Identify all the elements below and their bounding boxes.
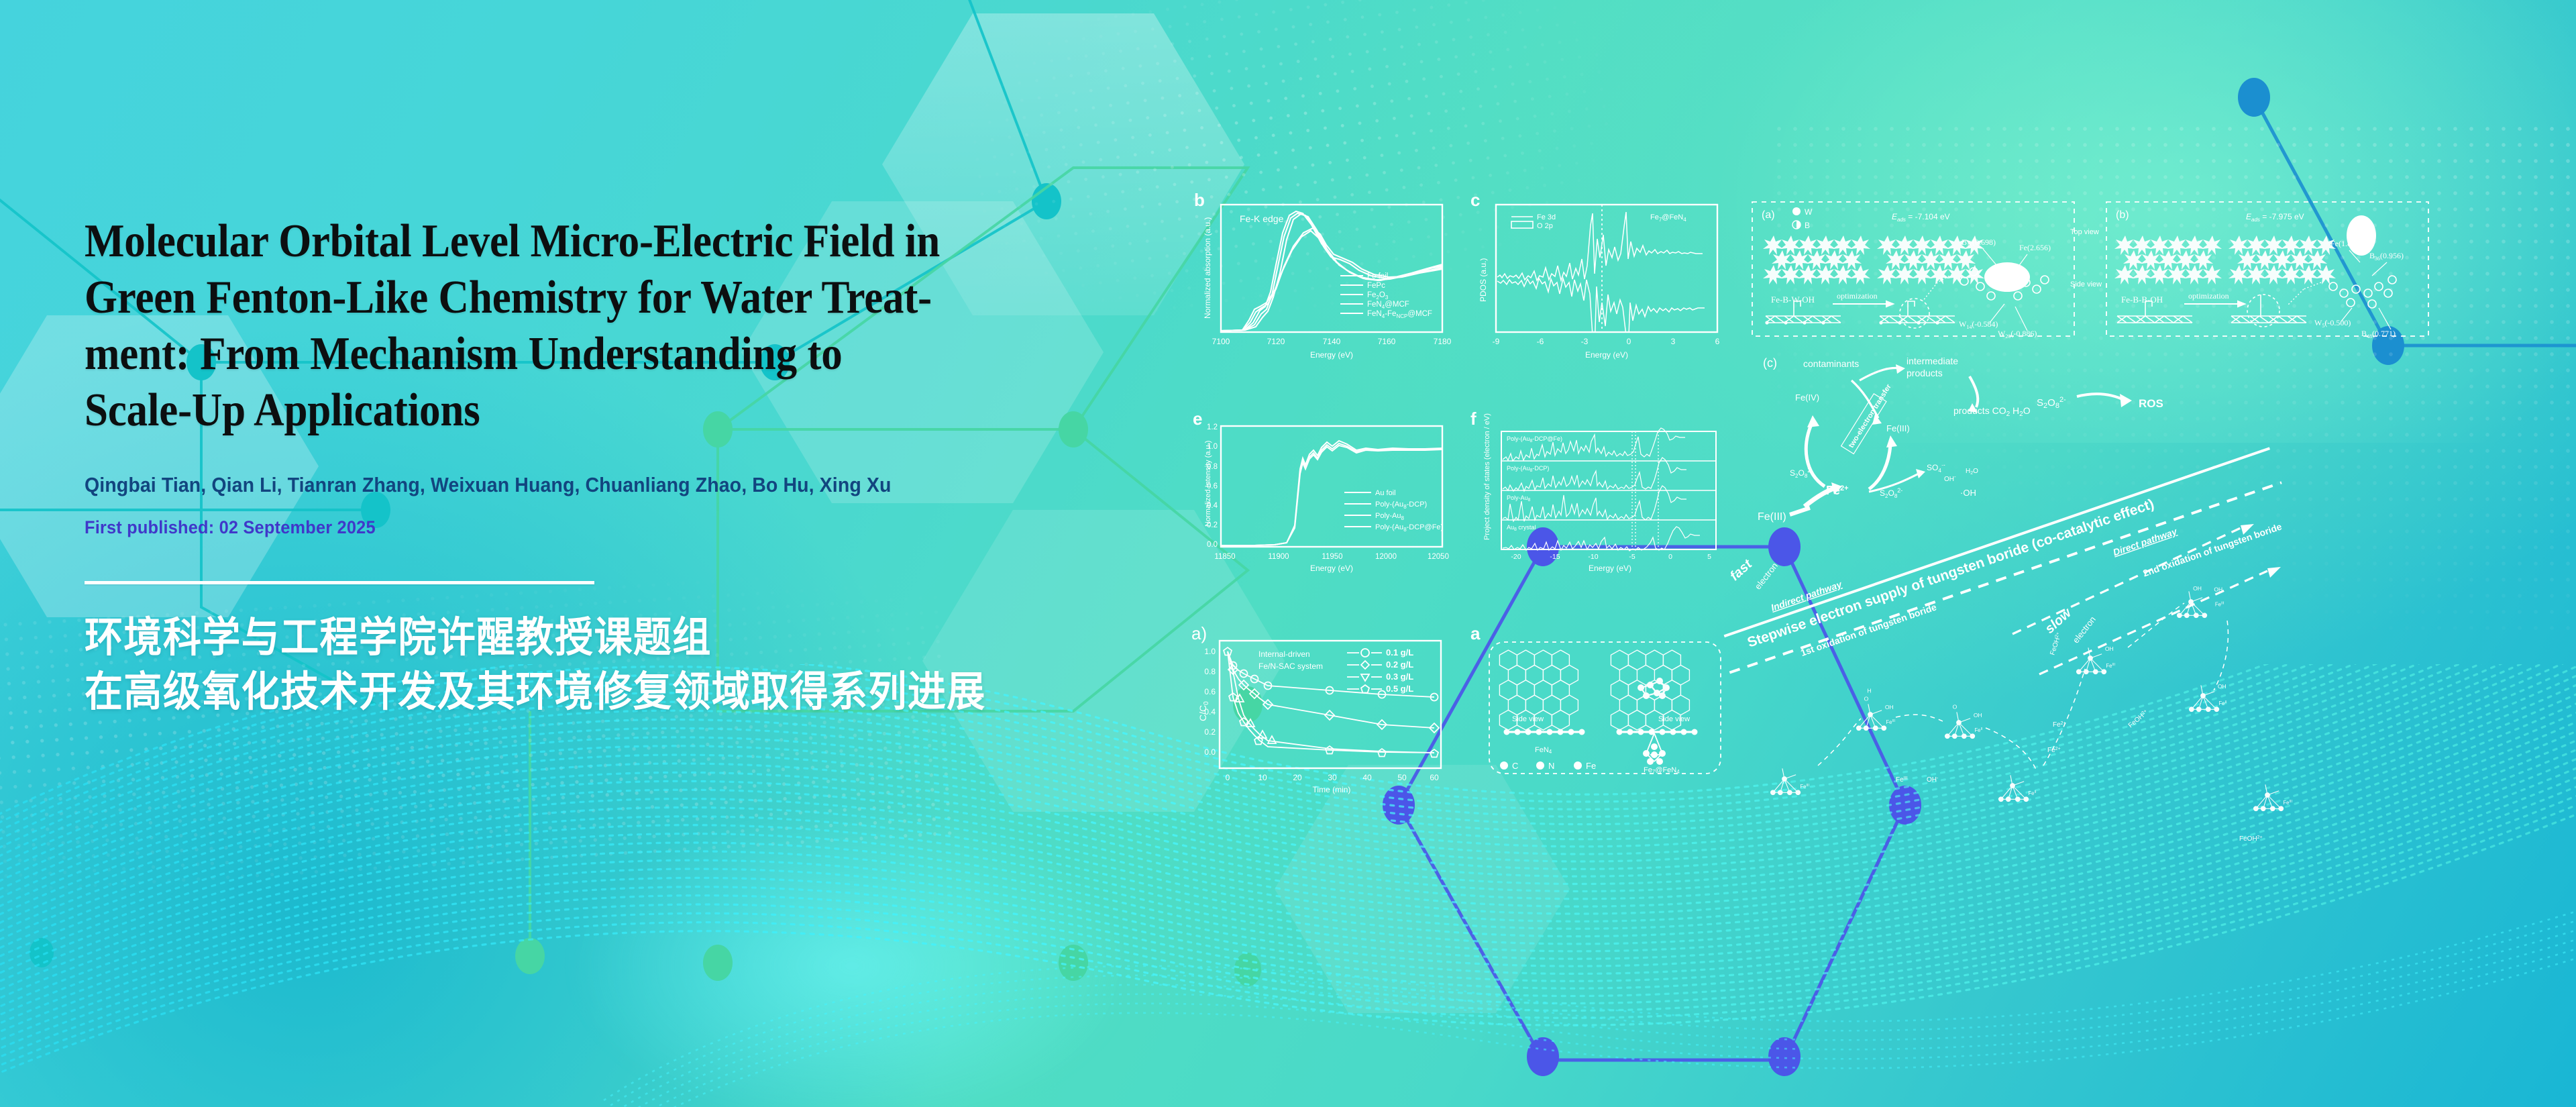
svg-text:OH: OH bbox=[2214, 586, 2222, 592]
svg-text:Top view: Top view bbox=[2070, 228, 2099, 236]
svg-text:Eads = -7.975 eV: Eads = -7.975 eV bbox=[2246, 212, 2304, 223]
svg-text:3: 3 bbox=[1671, 337, 1676, 346]
svg-text:1.0: 1.0 bbox=[1207, 443, 1218, 451]
svg-text:0.0: 0.0 bbox=[1207, 541, 1218, 549]
svg-text:O: O bbox=[1953, 704, 1957, 710]
svg-text:Fe: Fe bbox=[1586, 761, 1596, 771]
svg-text:(c): (c) bbox=[1763, 356, 1777, 370]
svg-text:OH: OH bbox=[2218, 683, 2226, 690]
svg-text:0.6: 0.6 bbox=[1204, 687, 1216, 696]
svg-text:FeN4: FeN4 bbox=[1535, 746, 1552, 755]
svg-text:Fe-B-B-OH: Fe-B-B-OH bbox=[2121, 295, 2163, 305]
svg-text:-3: -3 bbox=[1581, 337, 1589, 346]
svg-text:11850: 11850 bbox=[1214, 553, 1235, 561]
svg-text:Energy (eV): Energy (eV) bbox=[1310, 564, 1353, 573]
svg-text:intermediate: intermediate bbox=[1907, 356, 1958, 366]
title-line-3: ment: From Mechanism Understanding to bbox=[85, 328, 843, 380]
title-line-2: Green Fenton-Like Chemistry for Water Tr… bbox=[85, 272, 932, 323]
section-divider bbox=[85, 581, 594, 584]
svg-text:-20: -20 bbox=[1511, 553, 1521, 561]
svg-text:0.8: 0.8 bbox=[1207, 463, 1218, 471]
svg-text:Fe(III): Fe(III) bbox=[1758, 511, 1786, 523]
svg-text:f: f bbox=[1470, 409, 1477, 429]
svg-text:0.5 g/L: 0.5 g/L bbox=[1386, 684, 1413, 694]
svg-text:OH-: OH- bbox=[1927, 776, 1939, 784]
svg-text:(a): (a) bbox=[1762, 209, 1775, 221]
svg-text:-9: -9 bbox=[1493, 337, 1500, 346]
svg-text:7160: 7160 bbox=[1378, 337, 1396, 346]
svg-text:Fe7@FeN4: Fe7@FeN4 bbox=[1650, 213, 1686, 223]
svg-text:two-electron transfer: two-electron transfer bbox=[1847, 382, 1894, 450]
svg-text:FeIII: FeIII bbox=[1896, 776, 1908, 784]
svg-text:electron: electron bbox=[2071, 615, 2098, 645]
title-line-1: Molecular Orbital Level Micro-Electric F… bbox=[85, 215, 940, 267]
svg-text:FeII: FeII bbox=[2218, 700, 2227, 706]
svg-text:Au foil: Au foil bbox=[1375, 489, 1396, 497]
svg-text:7100: 7100 bbox=[1212, 337, 1230, 346]
svg-text:Time (min): Time (min) bbox=[1313, 785, 1351, 794]
legend-b-2: Fe2O3 bbox=[1367, 291, 1389, 301]
svg-text:Fe(2.656): Fe(2.656) bbox=[2019, 243, 2051, 252]
svg-text:-10: -10 bbox=[1588, 553, 1598, 561]
svg-text:C: C bbox=[1512, 761, 1518, 771]
svg-text:Stepwise electron supply of tu: Stepwise electron supply of tungsten bor… bbox=[1746, 496, 2156, 651]
svg-text:Internal-driven: Internal-driven bbox=[1258, 649, 1310, 659]
svg-text:5: 5 bbox=[1707, 553, 1711, 561]
announcement-line-2: 在高级氧化技术开发及其环境修复领域取得系列进展 bbox=[85, 666, 1134, 720]
svg-text:30: 30 bbox=[1328, 773, 1337, 782]
svg-text:FeII: FeII bbox=[2028, 790, 2037, 796]
svg-text:0.2: 0.2 bbox=[1204, 727, 1216, 737]
svg-text:FeOH2+: FeOH2+ bbox=[2239, 835, 2263, 843]
svg-text:fast: fast bbox=[1727, 556, 1756, 584]
svg-text:Fe2+: Fe2+ bbox=[2053, 721, 2066, 729]
svg-text:Project density of states (ele: Project density of states (electron / eV… bbox=[1483, 413, 1491, 540]
journal-cover-banner: Molecular Orbital Level Micro-Electric F… bbox=[0, 0, 2576, 1107]
svg-text:W14(-0.584): W14(-0.584) bbox=[1959, 319, 1998, 330]
svg-text:SO4·-: SO4·- bbox=[1927, 462, 1945, 474]
svg-text:FeIII: FeIII bbox=[1800, 784, 1809, 790]
legend-b-1: FePc bbox=[1367, 282, 1385, 290]
svg-text:0.6: 0.6 bbox=[1207, 482, 1218, 490]
publication-date: First published: 02 September 2025 bbox=[85, 517, 1157, 538]
svg-text:b: b bbox=[1194, 191, 1205, 210]
svg-text:12050: 12050 bbox=[1428, 553, 1449, 561]
svg-text:B16(0.698): B16(0.698) bbox=[1962, 238, 1996, 248]
svg-text:Au8 crystal: Au8 crystal bbox=[1507, 524, 1536, 532]
svg-text:-6: -6 bbox=[1537, 337, 1544, 346]
svg-text:Poly-(Au8-DCP): Poly-(Au8-DCP) bbox=[1507, 465, 1549, 473]
svg-text:0.4: 0.4 bbox=[1207, 502, 1218, 510]
svg-text:6: 6 bbox=[1715, 337, 1720, 346]
svg-text:O: O bbox=[1864, 696, 1869, 702]
svg-text:Eads = -7.104 eV: Eads = -7.104 eV bbox=[1892, 212, 1950, 223]
svg-text:Fe 3d: Fe 3d bbox=[1537, 213, 1556, 221]
svg-text:e: e bbox=[1193, 409, 1202, 429]
svg-text:Fe7@FeN4: Fe7@FeN4 bbox=[1644, 766, 1680, 775]
author-list: Qingbai Tian, Qian Li, Tianran Zhang, We… bbox=[85, 474, 1151, 497]
svg-text:PDOS (a.u.): PDOS (a.u.) bbox=[1479, 258, 1488, 302]
svg-text:Poly-Au8: Poly-Au8 bbox=[1507, 494, 1531, 503]
svg-text:11900: 11900 bbox=[1268, 553, 1289, 561]
svg-text:contaminants: contaminants bbox=[1803, 358, 1859, 369]
svg-text:0: 0 bbox=[1226, 773, 1230, 782]
svg-text:W5(-0.500): W5(-0.500) bbox=[2314, 318, 2351, 329]
svg-text:1.0: 1.0 bbox=[1204, 647, 1216, 656]
svg-text:20: 20 bbox=[1293, 773, 1302, 782]
svg-text:7120: 7120 bbox=[1267, 337, 1285, 346]
svg-text:OH: OH bbox=[1885, 704, 1894, 710]
legend-b-4: FeN4-FeNCP@MCF bbox=[1367, 310, 1432, 319]
svg-text:Fe(1.893): Fe(1.893) bbox=[2330, 239, 2362, 248]
svg-text:OH: OH bbox=[1974, 712, 1982, 719]
svg-text:W20(-0.886): W20(-0.886) bbox=[1998, 329, 2037, 339]
svg-text:Side view: Side view bbox=[1658, 715, 1690, 723]
svg-text:Fe(IV): Fe(IV) bbox=[1795, 392, 1819, 403]
svg-text:Poly-Au8: Poly-Au8 bbox=[1375, 512, 1405, 521]
svg-text:Side view: Side view bbox=[2070, 280, 2102, 288]
svg-text:OH: OH bbox=[2193, 585, 2202, 592]
announcement-line-1: 环境科学与工程学院许醒教授课题组 bbox=[85, 611, 1134, 666]
svg-text:40: 40 bbox=[1362, 773, 1372, 782]
legend-b-0: Fe foil bbox=[1367, 272, 1388, 280]
svg-text:Poly-(Au8-DCP@Fe): Poly-(Au8-DCP@Fe) bbox=[1507, 435, 1562, 443]
svg-text:B48(0.771): B48(0.771) bbox=[2361, 329, 2396, 339]
legend-b-3: FeN4@MCF bbox=[1367, 301, 1409, 310]
svg-text:a): a) bbox=[1191, 623, 1207, 643]
svg-text:0: 0 bbox=[1668, 553, 1672, 561]
announcement-block: 环境科学与工程学院许醒教授课题组 在高级氧化技术开发及其环境修复领域取得系列进展 bbox=[85, 611, 1225, 719]
svg-text:OH: OH bbox=[2105, 645, 2114, 652]
svg-text:W: W bbox=[1805, 207, 1813, 217]
svg-text:(b): (b) bbox=[2116, 209, 2129, 221]
svg-text:10: 10 bbox=[1258, 773, 1267, 782]
svg-text:optimization: optimization bbox=[1837, 291, 1878, 301]
svg-text:B36(0.956): B36(0.956) bbox=[2369, 251, 2404, 262]
svg-text:Fe-K edge: Fe-K edge bbox=[1240, 213, 1284, 224]
svg-text:0.2: 0.2 bbox=[1207, 521, 1218, 529]
svg-text:7140: 7140 bbox=[1323, 337, 1341, 346]
svg-text:O 2p: O 2p bbox=[1537, 222, 1553, 230]
svg-text:products: products bbox=[1907, 368, 1943, 378]
svg-text:B: B bbox=[1805, 221, 1810, 230]
svg-text:50: 50 bbox=[1397, 773, 1407, 782]
svg-text:Poly-(Au8-DCP@Fe): Poly-(Au8-DCP@Fe) bbox=[1375, 523, 1443, 533]
svg-text:slow: slow bbox=[2042, 605, 2075, 637]
svg-text:Poly-(Au8-DCP): Poly-(Au8-DCP) bbox=[1375, 500, 1427, 510]
svg-text:Fe(III): Fe(III) bbox=[1886, 423, 1910, 433]
svg-text:FeIII: FeIII bbox=[2215, 601, 2224, 607]
svg-text:H2O: H2O bbox=[1966, 468, 1978, 476]
title-line-4: Scale-Up Applications bbox=[85, 384, 480, 436]
svg-text:FeIII: FeIII bbox=[1886, 719, 1895, 725]
svg-text:Side view: Side view bbox=[1512, 715, 1544, 723]
svg-text:-15: -15 bbox=[1550, 553, 1560, 561]
svg-text:0.3 g/L: 0.3 g/L bbox=[1386, 672, 1413, 682]
svg-text:N: N bbox=[1548, 761, 1554, 771]
svg-text:·OH: ·OH bbox=[1960, 488, 1976, 498]
svg-text:Energy (eV): Energy (eV) bbox=[1310, 350, 1353, 360]
svg-text:Fe2+: Fe2+ bbox=[2047, 747, 2061, 755]
svg-text:S2O82-: S2O82- bbox=[2037, 396, 2066, 410]
svg-text:products CO2 H2O: products CO2 H2O bbox=[1953, 405, 2031, 418]
svg-text:Fe/N-SAC system: Fe/N-SAC system bbox=[1258, 662, 1323, 671]
svg-text:optimization: optimization bbox=[2188, 291, 2229, 301]
svg-text:ROS: ROS bbox=[2139, 397, 2163, 410]
svg-text:Fe-B-W-OH: Fe-B-W-OH bbox=[1771, 295, 1815, 305]
svg-text:0.1 g/L: 0.1 g/L bbox=[1386, 647, 1413, 657]
page-title: Molecular Orbital Level Micro-Electric F… bbox=[85, 213, 1111, 439]
svg-text:a: a bbox=[1470, 623, 1481, 643]
svg-text:0.8: 0.8 bbox=[1204, 667, 1216, 676]
svg-text:11950: 11950 bbox=[1322, 553, 1342, 561]
svg-text:-5: -5 bbox=[1629, 553, 1635, 561]
svg-text:Normalized absorption (a.u.): Normalized absorption (a.u.) bbox=[1203, 217, 1212, 319]
svg-text:FeIII: FeIII bbox=[2283, 800, 2292, 806]
research-figure-composite: b Fe-K edge Normalized absorption (a.u.) bbox=[1181, 191, 2576, 862]
svg-text:c: c bbox=[1470, 191, 1480, 210]
svg-text:0.2 g/L: 0.2 g/L bbox=[1386, 660, 1413, 670]
svg-text:FeOH2+: FeOH2+ bbox=[2127, 708, 2150, 729]
svg-text:12000: 12000 bbox=[1375, 553, 1397, 561]
svg-text:60: 60 bbox=[1430, 773, 1439, 782]
svg-text:FeII: FeII bbox=[1974, 727, 1983, 733]
svg-text:0.0: 0.0 bbox=[1204, 747, 1216, 757]
svg-text:7180: 7180 bbox=[1434, 337, 1452, 346]
svg-text:OH-: OH- bbox=[1944, 474, 1956, 484]
svg-text:Energy (eV): Energy (eV) bbox=[1585, 350, 1628, 360]
svg-text:Energy (eV): Energy (eV) bbox=[1589, 564, 1631, 573]
article-text-column: Molecular Orbital Level Micro-Electric F… bbox=[85, 213, 1225, 719]
svg-text:FeIII: FeIII bbox=[2106, 663, 2115, 669]
svg-text:1.2: 1.2 bbox=[1207, 423, 1218, 431]
svg-text:0.4: 0.4 bbox=[1204, 707, 1216, 717]
svg-text:0: 0 bbox=[1627, 337, 1631, 346]
svg-text:electron: electron bbox=[1753, 561, 1780, 592]
svg-text:H: H bbox=[1867, 687, 1871, 694]
